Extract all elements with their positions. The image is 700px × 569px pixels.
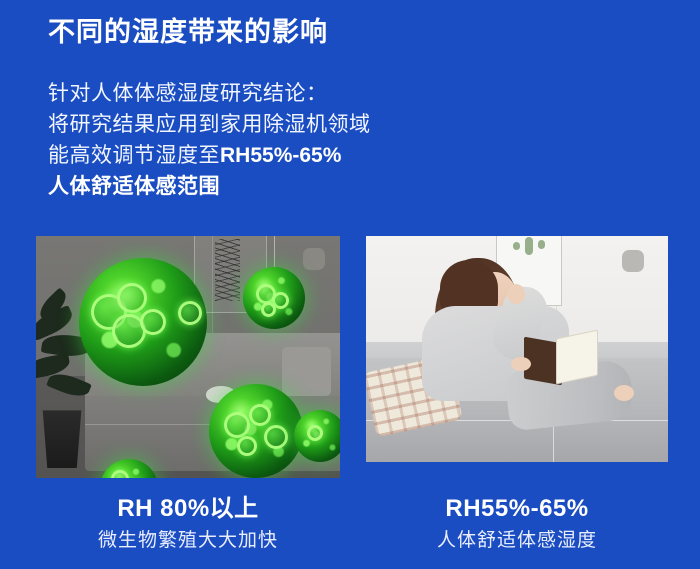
- living-room-dim: [36, 236, 340, 478]
- caption-left-subtitle: 微生物繁殖大大加快: [36, 528, 340, 554]
- open-book: [524, 334, 598, 384]
- header: 不同的湿度带来的影响: [48, 16, 668, 50]
- microbe-bubble: [111, 470, 129, 478]
- microbe-sphere-side: [294, 410, 340, 462]
- woman-hand-at-head: [507, 284, 525, 304]
- microbe-sphere-large: [79, 258, 207, 386]
- caption-comfort-humidity: RH55%-65% 人体舒适体感湿度: [366, 494, 668, 554]
- caption-high-humidity: RH 80%以上 微生物繁殖大大加快: [36, 494, 340, 554]
- caption-right-title: RH55%-65%: [366, 494, 668, 524]
- microbe-bubble: [178, 301, 202, 325]
- caption-left-title: RH 80%以上: [36, 494, 340, 524]
- intro-line-4: 人体舒适体感范围: [48, 171, 648, 202]
- microbe-bubble: [117, 283, 147, 313]
- page-title: 不同的湿度带来的影响: [48, 16, 668, 50]
- microbe-hang-wire: [274, 236, 275, 267]
- caption-right-subtitle: 人体舒适体感湿度: [366, 528, 668, 554]
- humidity-infographic-page: { "theme": { "background_blue": "#1b4dc2…: [0, 0, 700, 569]
- comparison-panels: [0, 236, 700, 482]
- photo-microbe-room: [36, 236, 340, 478]
- microbe-sphere-lower: [209, 384, 303, 478]
- living-room-bright: [366, 236, 668, 462]
- panel-high-humidity: [36, 236, 340, 478]
- cactus-artwork: [525, 237, 533, 255]
- intro-line-3: 能高效调节湿度至RH55%-65%: [48, 140, 648, 171]
- microbe-bubble: [307, 425, 323, 441]
- woman-figure: [408, 254, 631, 453]
- microbe-bubble: [261, 302, 276, 317]
- photo-woman-reading: [366, 236, 668, 462]
- microbe-bubble: [249, 404, 271, 426]
- microbe-bubble: [237, 436, 257, 456]
- panel-captions: RH 80%以上 微生物繁殖大大加快 RH55%-65% 人体舒适体感湿度: [0, 494, 700, 569]
- intro-line-3-prefix: 能高效调节湿度至: [48, 144, 220, 167]
- humidity-range-highlight: RH55%-65%: [220, 144, 341, 167]
- panel-comfort-humidity: [366, 236, 668, 462]
- sofa-cushion: [282, 347, 331, 395]
- plant-pot: [39, 410, 85, 468]
- intro-paragraph: 针对人体体感湿度研究结论： 将研究结果应用到家用除湿机领域 能高效调节湿度至RH…: [48, 78, 648, 202]
- intro-line-1: 针对人体体感湿度研究结论：: [48, 78, 648, 109]
- microbe-bubble: [224, 412, 250, 438]
- microbe-sphere-hanging: [243, 267, 305, 329]
- wall-thermostat-icon: [303, 248, 325, 270]
- microbe-bubble: [264, 425, 288, 449]
- intro-line-2: 将研究结果应用到家用除湿机领域: [48, 109, 648, 140]
- book-page-right: [556, 329, 598, 384]
- microbe-bubble: [140, 309, 166, 335]
